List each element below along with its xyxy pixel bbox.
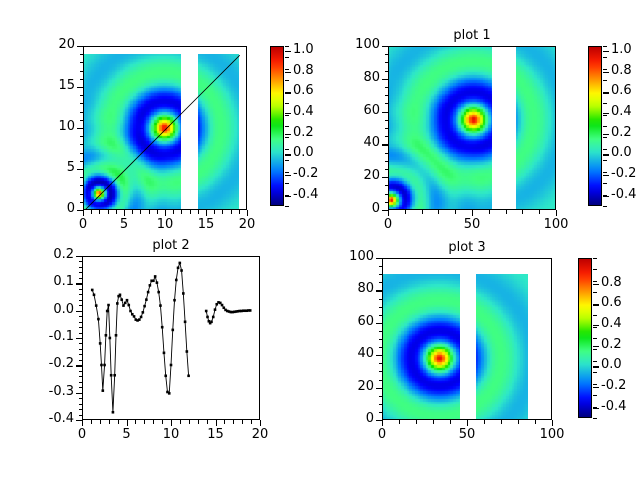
colorbar-tick [593, 408, 599, 409]
plot-area [383, 259, 551, 419]
colorbar-tick-label: -0.4 [601, 399, 626, 414]
colorbar-minor-tick [593, 327, 597, 328]
y-minor-tick [379, 282, 383, 283]
x-minor-tick [501, 420, 502, 424]
y-major-tick [376, 420, 382, 421]
colorbar-minor-tick [593, 258, 597, 259]
y-minor-tick [379, 339, 383, 340]
colorbar-tick-label: 0.8 [601, 275, 622, 290]
y-major-tick [376, 323, 382, 324]
y-minor-tick [379, 274, 383, 275]
colorbar-tick-label: 0.2 [601, 337, 622, 352]
x-minor-tick [399, 420, 400, 424]
colorbar-minor-tick [593, 384, 597, 385]
x-major-tick [467, 420, 468, 426]
colorbar-tick [593, 346, 599, 347]
heatmap-patch [476, 274, 529, 419]
x-minor-tick [535, 420, 536, 424]
y-minor-tick [379, 380, 383, 381]
y-minor-tick [379, 315, 383, 316]
y-minor-tick [379, 266, 383, 267]
colorbar-tick [593, 284, 599, 285]
colorbar-minor-tick [593, 418, 597, 419]
plot-title: plot 3 [342, 240, 592, 255]
colorbar-tick [593, 387, 599, 388]
y-major-tick [376, 290, 382, 291]
y-minor-tick [379, 331, 383, 332]
colorbar-minor-tick [593, 372, 597, 373]
y-tick-label: 80 [320, 281, 374, 296]
subplot-bottom-right: plot 30501000204060801000.80.60.40.20.0-… [0, 0, 640, 480]
y-tick-label: 20 [320, 379, 374, 394]
y-minor-tick [379, 299, 383, 300]
colorbar-minor-tick [593, 281, 597, 282]
y-minor-tick [379, 307, 383, 308]
colorbar-tick-label: 0.0 [601, 357, 622, 372]
colorbar-minor-tick [593, 407, 597, 408]
x-tick-label: 0 [357, 427, 407, 442]
y-minor-tick [379, 404, 383, 405]
colorbar-tick-label: 0.6 [601, 295, 622, 310]
colorbar-gradient [579, 259, 591, 417]
y-tick-label: 100 [320, 249, 374, 264]
x-major-tick [382, 420, 383, 426]
heatmap-canvas [476, 274, 529, 419]
x-tick-label: 50 [442, 427, 492, 442]
y-tick-label: 60 [320, 314, 374, 329]
heatmap-patch [383, 274, 460, 419]
colorbar-tick [593, 366, 599, 367]
x-minor-tick [433, 420, 434, 424]
heatmap-canvas [383, 274, 460, 419]
x-major-tick [552, 420, 553, 426]
y-minor-tick [379, 371, 383, 372]
colorbar-minor-tick [593, 395, 597, 396]
colorbar-minor-tick [593, 349, 597, 350]
colorbar-minor-tick [593, 338, 597, 339]
x-tick-label: 100 [527, 427, 577, 442]
colorbar-minor-tick [593, 315, 597, 316]
y-minor-tick [379, 396, 383, 397]
colorbar-minor-tick [593, 304, 597, 305]
x-minor-tick [416, 420, 417, 424]
colorbar-tick-label: 0.4 [601, 316, 622, 331]
x-minor-tick [450, 420, 451, 424]
x-minor-tick [484, 420, 485, 424]
y-tick-label: 0 [320, 411, 374, 426]
y-major-tick [376, 388, 382, 389]
figure-canvas: 05101520051015201.00.80.60.40.20.0-0.2-0… [0, 0, 640, 480]
y-minor-tick [379, 363, 383, 364]
colorbar-minor-tick [593, 269, 597, 270]
y-major-tick [376, 258, 382, 259]
colorbar-minor-tick [593, 361, 597, 362]
x-minor-tick [518, 420, 519, 424]
y-tick-label: 40 [320, 346, 374, 361]
y-major-tick [376, 355, 382, 356]
y-minor-tick [379, 412, 383, 413]
y-minor-tick [379, 347, 383, 348]
colorbar-minor-tick [593, 292, 597, 293]
colorbar-tick-label: -0.2 [601, 378, 626, 393]
colorbar [578, 258, 592, 418]
